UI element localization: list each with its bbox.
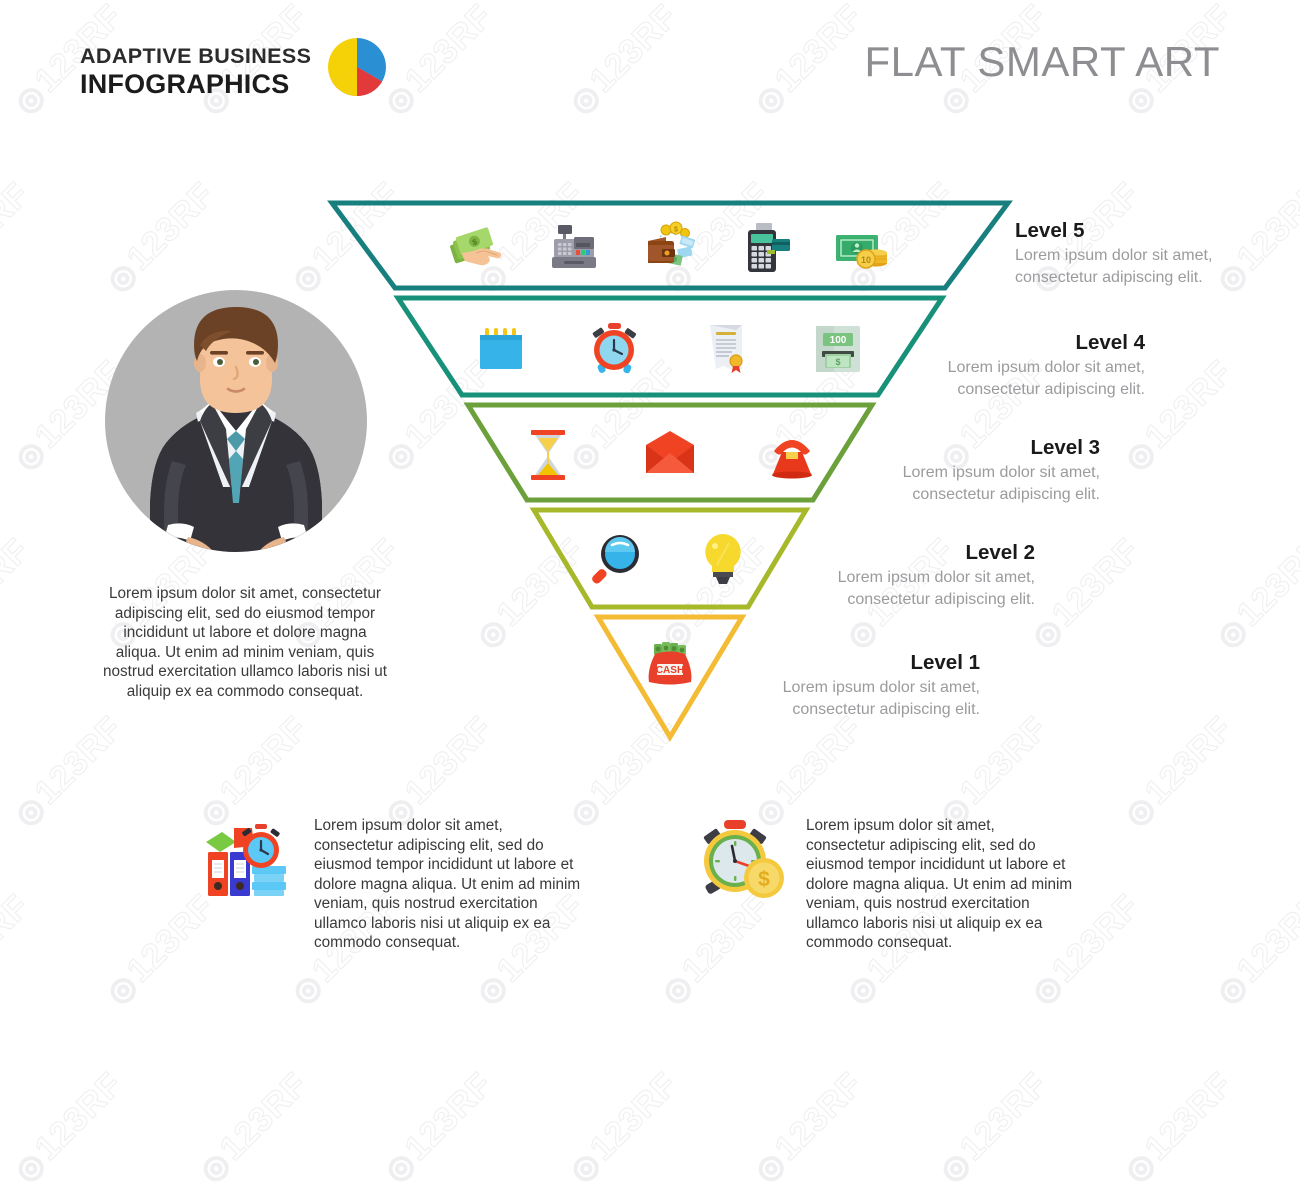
watermark-text: 123RF: [0, 887, 38, 1012]
funnel-icons-level-5: $: [410, 215, 930, 283]
watermark-text: 123RF: [1208, 531, 1300, 656]
watermark-text: 123RF: [191, 1065, 316, 1190]
watermark-text: 123RF: [98, 175, 223, 300]
cash-register-icon: [544, 219, 604, 279]
level-5-title: Level 5: [1015, 218, 1212, 243]
level-1-title: Level 1: [630, 650, 980, 675]
level-5-desc: Lorem ipsum dolor sit amet, consectetur …: [1015, 245, 1212, 288]
svg-text:$: $: [674, 227, 678, 234]
watermark-text: 123RF: [561, 0, 686, 122]
brand-logo: ADAPTIVE BUSINESS INFOGRAPHICS: [80, 36, 388, 107]
level-caption-1: Level 1 Lorem ipsum dolor sit amet, cons…: [630, 650, 980, 720]
watermark-text: 123RF: [6, 1065, 131, 1190]
alarm-clock-icon: [584, 319, 644, 379]
watermark-text: 123RF: [1116, 709, 1241, 834]
watermark-text: 123RF: [746, 0, 871, 122]
hand-cash-icon: $: [448, 219, 508, 279]
bottom-right-text: Lorem ipsum dolor sit amet, consectetur …: [806, 812, 1078, 953]
page-title: FLAT SMART ART: [864, 38, 1220, 86]
level-4-desc: Lorem ipsum dolor sit amet, consectetur …: [810, 357, 1145, 400]
hourglass-icon: [518, 425, 578, 485]
svg-text:10: 10: [861, 255, 871, 265]
person-description: Lorem ipsum dolor sit amet, consectetur …: [100, 584, 390, 701]
watermark-text: 123RF: [1116, 1065, 1241, 1190]
wallet-coins-icon: $: [640, 219, 700, 279]
binders-clock-icon: [200, 812, 296, 908]
pie-chart-logo-icon: [326, 36, 388, 103]
watermark-text: 123RF: [931, 1065, 1056, 1190]
watermark-text: 123RF: [1023, 531, 1148, 656]
brand-logo-text: ADAPTIVE BUSINESS INFOGRAPHICS: [80, 44, 311, 99]
brand-logo-line1: ADAPTIVE BUSINESS: [80, 44, 311, 69]
level-caption-3: Level 3 Lorem ipsum dolor sit amet, cons…: [760, 435, 1100, 505]
certificate-icon: [696, 319, 756, 379]
watermark-text: 123RF: [746, 1065, 871, 1190]
calendar-icon: [472, 319, 532, 379]
level-3-title: Level 3: [760, 435, 1100, 460]
brand-logo-line2: INFOGRAPHICS: [80, 69, 311, 99]
watermark-text: 123RF: [6, 709, 131, 834]
watermark-text: 123RF: [376, 0, 501, 122]
watermark-text: 123RF: [561, 1065, 686, 1190]
level-4-title: Level 4: [810, 330, 1145, 355]
level-caption-5: Level 5 Lorem ipsum dolor sit amet, cons…: [1015, 218, 1212, 288]
level-3-desc: Lorem ipsum dolor sit amet, consectetur …: [760, 462, 1100, 505]
level-1-desc: Lorem ipsum dolor sit amet, consectetur …: [630, 677, 980, 720]
level-2-title: Level 2: [690, 540, 1035, 565]
envelope-icon: [640, 425, 700, 485]
watermark-text: 123RF: [1208, 175, 1300, 300]
level-caption-4: Level 4 Lorem ipsum dolor sit amet, cons…: [810, 330, 1145, 400]
bottom-left-text: Lorem ipsum dolor sit amet, consectetur …: [314, 812, 586, 953]
businessman-avatar: [100, 285, 390, 562]
watermark-text: 123RF: [0, 175, 38, 300]
bottom-block-left: Lorem ipsum dolor sit amet, consectetur …: [200, 812, 586, 953]
bottom-block-right: $ Lorem ipsum dolor sit amet, consectetu…: [692, 812, 1078, 953]
magnifier-icon: [587, 530, 647, 590]
watermark-text: 123RF: [0, 531, 38, 656]
watermark-text: 123RF: [1208, 887, 1300, 1012]
card-terminal-icon: [736, 219, 796, 279]
person-block: Lorem ipsum dolor sit amet, consectetur …: [100, 285, 390, 701]
level-2-desc: Lorem ipsum dolor sit amet, consectetur …: [690, 567, 1035, 610]
stopwatch-coin-icon: $: [692, 812, 788, 908]
money-stack-coins-icon: 10: [832, 219, 892, 279]
level-caption-2: Level 2 Lorem ipsum dolor sit amet, cons…: [690, 540, 1035, 610]
watermark-text: 123RF: [376, 1065, 501, 1190]
svg-text:$: $: [758, 868, 770, 891]
